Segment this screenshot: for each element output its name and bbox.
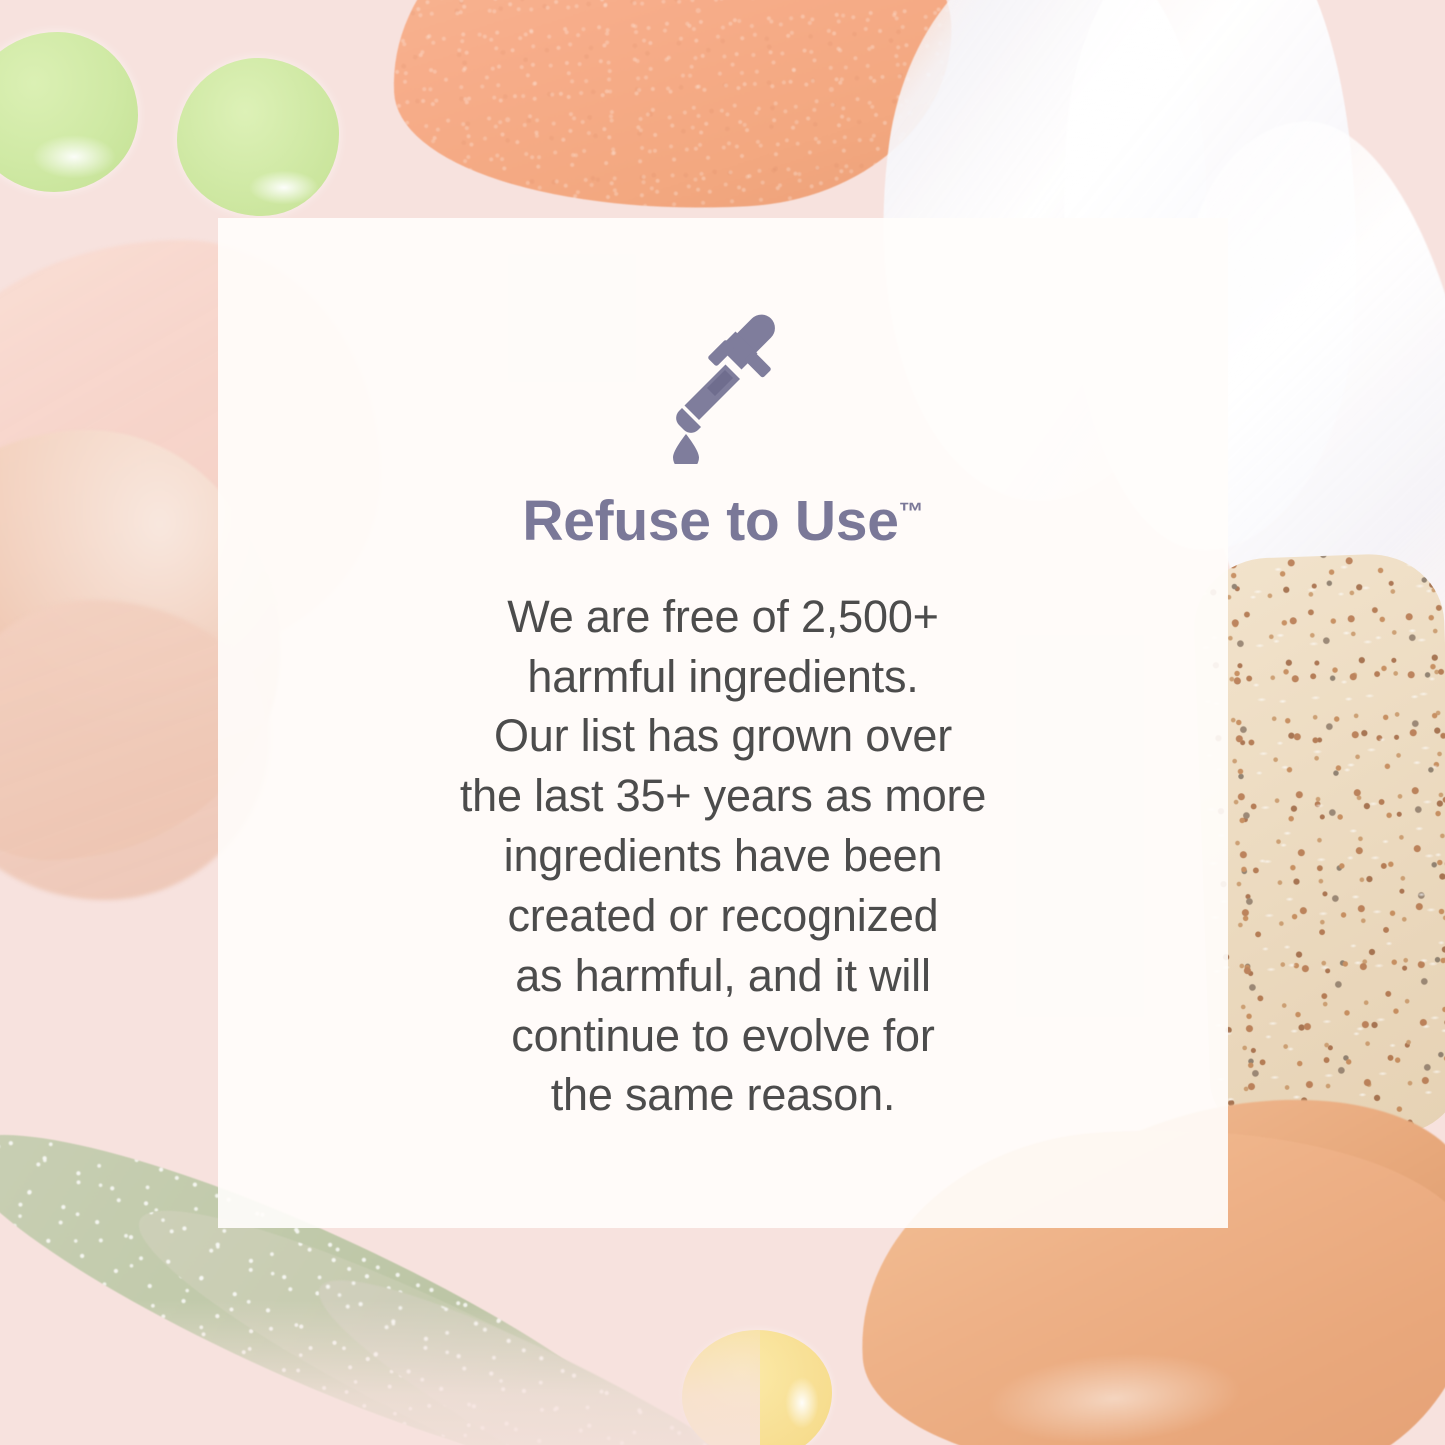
beige-speckled-scrub-swatch — [1192, 552, 1445, 1140]
body-line: Our list has grown over — [460, 706, 986, 766]
refuse-to-use-card: Refuse to Use™ We are free of 2,500+ har… — [218, 218, 1228, 1228]
body-line: as harmful, and it will — [460, 946, 986, 1006]
green-gel-droplet-right-swatch — [177, 58, 339, 216]
card-body-text: We are free of 2,500+ harmful ingredient… — [460, 587, 986, 1126]
bottom-pink-wash — [0, 1300, 760, 1445]
card-title-text: Refuse to Use — [522, 489, 898, 553]
trademark-symbol: ™ — [899, 498, 924, 526]
body-line: the last 35+ years as more — [460, 766, 986, 826]
dropper-pipette-icon — [661, 314, 785, 464]
peach-textured-cream-top-swatch — [384, 0, 961, 224]
body-line: ingredients have been — [460, 826, 986, 886]
body-line: harmful ingredients. — [460, 647, 986, 707]
body-line: continue to evolve for — [460, 1006, 986, 1066]
page-title: Refuse to Use™ — [522, 490, 923, 553]
body-line: the same reason. — [460, 1065, 986, 1125]
green-gel-droplet-left-swatch — [0, 32, 138, 192]
promo-graphic-canvas: Refuse to Use™ We are free of 2,500+ har… — [0, 0, 1445, 1445]
body-line: created or recognized — [460, 886, 986, 946]
body-line: We are free of 2,500+ — [460, 587, 986, 647]
